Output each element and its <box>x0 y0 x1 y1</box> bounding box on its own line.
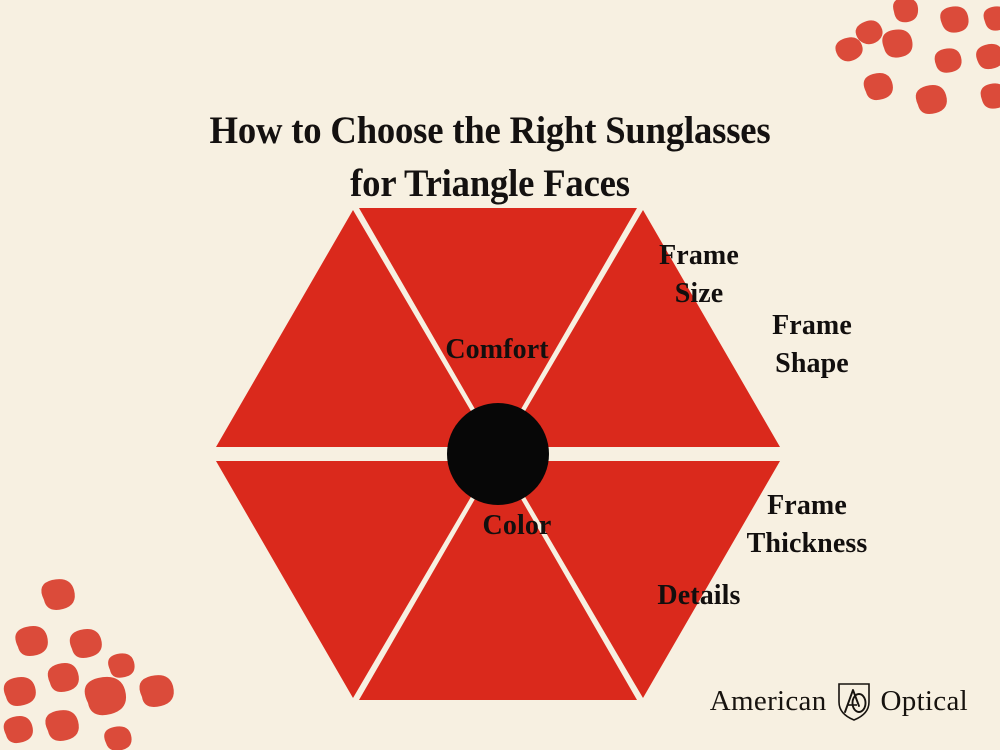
wedge-label-comfort: Comfort <box>372 331 622 369</box>
wedge-label-details: Details <box>574 577 824 615</box>
infographic-canvas: How to Choose the Right Sunglasses for T… <box>0 0 1000 750</box>
decorative-dots-bottom-left <box>0 575 200 750</box>
brand-word-american: American <box>710 687 827 716</box>
page-title-line-1: How to Choose the Right Sunglasses <box>29 104 950 157</box>
center-hub-circle <box>447 403 549 505</box>
wedge-label-frame-shape: Frame Shape <box>702 307 922 383</box>
wedge-label-frame-thickness: Frame Thickness <box>682 487 932 563</box>
brand-logo: American Optical <box>710 680 968 722</box>
wedge-label-frame-size: Frame Size <box>574 237 824 313</box>
ao-shield-icon <box>836 680 872 722</box>
brand-word-optical: Optical <box>881 687 968 716</box>
wedge-label-color: Color <box>392 507 642 545</box>
hexagon-wheel-diagram: Frame Size Frame Shape Frame Thickness D… <box>202 193 794 715</box>
